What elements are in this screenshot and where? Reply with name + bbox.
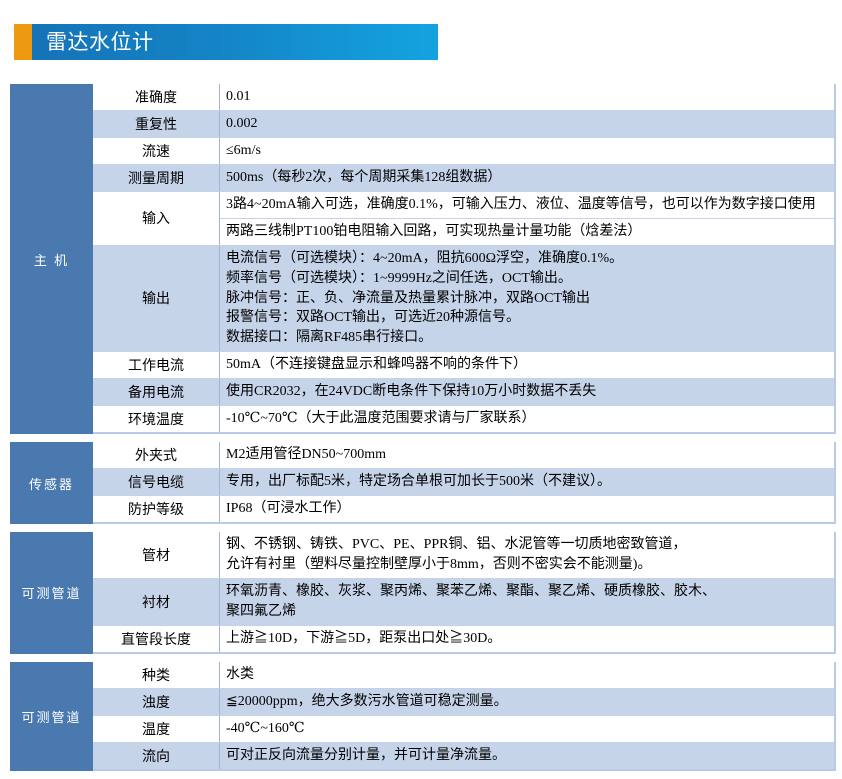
spec-row-value-line: 水类 bbox=[226, 665, 832, 685]
spec-row-value: 环氧沥青、橡胶、灰浆、聚丙烯、聚苯乙烯、聚酯、聚乙烯、硬质橡胶、胶木、聚四氟乙烯 bbox=[220, 579, 834, 625]
spec-row-value: M2适用管径DN50~700mm bbox=[220, 442, 834, 468]
spec-row-value-line: 允许有衬里（塑料尽量控制壁厚小于8mm，否则不密实会不能测量)。 bbox=[226, 555, 832, 575]
spec-row-label: 准确度 bbox=[93, 84, 220, 110]
spec-row-label: 测量周期 bbox=[93, 165, 220, 191]
spec-row-value-line: 环氧沥青、橡胶、灰浆、聚丙烯、聚苯乙烯、聚酯、聚乙烯、硬质橡胶、胶木、 bbox=[226, 582, 832, 602]
spec-section: 可测管道种类水类浊度≦20000ppm，绝大多数污水管道可稳定测量。温度-40℃… bbox=[10, 662, 836, 771]
spec-row-label: 输出 bbox=[93, 246, 220, 351]
spec-row-value: IP68（可浸水工作） bbox=[220, 496, 834, 522]
specification-table: 主 机准确度0.01重复性0.002流速≤6m/s测量周期500ms（每秒2次，… bbox=[10, 84, 836, 779]
spec-row-group: 准确度0.01重复性0.002流速≤6m/s测量周期500ms（每秒2次，每个周… bbox=[93, 84, 834, 434]
spec-row-value-line: 两路三线制PT100铂电阻输入回路，可实现热量计量功能（焓差法） bbox=[220, 219, 834, 245]
spec-row-subgroup: 3路4~20mA输入可选，准确度0.1%，可输入压力、液位、温度等信号，也可以作… bbox=[220, 192, 834, 245]
spec-row-label: 重复性 bbox=[93, 111, 220, 137]
spec-category-label: 可测管道 bbox=[10, 532, 93, 654]
spec-row-value-line: 使用CR2032，在24VDC断电条件下保持10万小时数据不丢失 bbox=[226, 382, 832, 402]
spec-row-label: 流向 bbox=[93, 743, 220, 769]
spec-row-value-line: ≦20000ppm，绝大多数污水管道可稳定测量。 bbox=[226, 692, 832, 712]
spec-row-value: -10℃~70℃（大于此温度范围要求请与厂家联系） bbox=[220, 406, 834, 432]
spec-row-value-line: ≤6m/s bbox=[226, 141, 832, 161]
page-title: 雷达水位计 bbox=[46, 32, 154, 53]
spec-row-value: 0.01 bbox=[220, 84, 834, 110]
spec-row: 输入3路4~20mA输入可选，准确度0.1%，可输入压力、液位、温度等信号，也可… bbox=[93, 192, 834, 246]
spec-row-value: 使用CR2032，在24VDC断电条件下保持10万小时数据不丢失 bbox=[220, 379, 834, 405]
spec-row-label: 管材 bbox=[93, 532, 220, 578]
spec-row-label: 工作电流 bbox=[93, 352, 220, 378]
spec-row: 准确度0.01 bbox=[93, 84, 834, 111]
spec-row: 备用电流使用CR2032，在24VDC断电条件下保持10万小时数据不丢失 bbox=[93, 379, 834, 406]
spec-row-value-line: 聚四氟乙烯 bbox=[226, 602, 832, 622]
spec-row: 输出电流信号（可选模块）：4~20mA，阻抗600Ω浮空，准确度0.1%。频率信… bbox=[93, 246, 834, 352]
spec-row-value-line: -40℃~160℃ bbox=[226, 719, 832, 739]
spec-row: 信号电缆专用，出厂标配5米，特定场合单根可加长于500米（不建议）。 bbox=[93, 469, 834, 496]
spec-row-label: 种类 bbox=[93, 662, 220, 688]
spec-row: 衬材环氧沥青、橡胶、灰浆、聚丙烯、聚苯乙烯、聚酯、聚乙烯、硬质橡胶、胶木、聚四氟… bbox=[93, 579, 834, 626]
spec-row: 温度-40℃~160℃ bbox=[93, 716, 834, 743]
spec-row-label: 信号电缆 bbox=[93, 469, 220, 495]
spec-row-value-line: 脉冲信号：正、负、净流量及热量累计脉冲，双路OCT输出 bbox=[226, 289, 832, 309]
spec-row-value-line: 专用，出厂标配5米，特定场合单根可加长于500米（不建议）。 bbox=[226, 472, 832, 492]
spec-row-value: ≤6m/s bbox=[220, 138, 834, 164]
spec-row-value-line: 0.002 bbox=[226, 114, 832, 134]
spec-row-label: 输入 bbox=[93, 192, 220, 245]
spec-row-group: 管材钢、不锈钢、铸铁、PVC、PE、PPR铜、铝、水泥管等一切质地密致管道，允许… bbox=[93, 532, 834, 654]
spec-row: 测量周期500ms（每秒2次，每个周期采集128组数据） bbox=[93, 165, 834, 192]
spec-row-value-line: IP68（可浸水工作） bbox=[226, 499, 832, 519]
spec-row: 流向可对正反向流量分别计量，并可计量净流量。 bbox=[93, 743, 834, 771]
spec-row-value: 500ms（每秒2次，每个周期采集128组数据） bbox=[220, 165, 834, 191]
spec-row-value-line: 钢、不锈钢、铸铁、PVC、PE、PPR铜、铝、水泥管等一切质地密致管道， bbox=[226, 535, 832, 555]
spec-row-value: 专用，出厂标配5米，特定场合单根可加长于500米（不建议）。 bbox=[220, 469, 834, 495]
spec-row-label: 浊度 bbox=[93, 689, 220, 715]
spec-row-value: 50mA（不连接键盘显示和蜂鸣器不响的条件下） bbox=[220, 352, 834, 378]
spec-row-value: 钢、不锈钢、铸铁、PVC、PE、PPR铜、铝、水泥管等一切质地密致管道，允许有衬… bbox=[220, 532, 834, 578]
spec-row: 防护等级IP68（可浸水工作） bbox=[93, 496, 834, 524]
spec-row-label: 防护等级 bbox=[93, 496, 220, 522]
spec-row-value: ≦20000ppm，绝大多数污水管道可稳定测量。 bbox=[220, 689, 834, 715]
spec-row: 流速≤6m/s bbox=[93, 138, 834, 165]
header-accent-bar bbox=[14, 24, 32, 60]
spec-row: 外夹式M2适用管径DN50~700mm bbox=[93, 442, 834, 469]
spec-row: 浊度≦20000ppm，绝大多数污水管道可稳定测量。 bbox=[93, 689, 834, 716]
spec-row-value: 可对正反向流量分别计量，并可计量净流量。 bbox=[220, 743, 834, 769]
spec-row-label: 直管段长度 bbox=[93, 626, 220, 652]
spec-row-label: 外夹式 bbox=[93, 442, 220, 468]
spec-row-value: 0.002 bbox=[220, 111, 834, 137]
spec-section: 传感器外夹式M2适用管径DN50~700mm信号电缆专用，出厂标配5米，特定场合… bbox=[10, 442, 836, 524]
spec-row-value: 水类 bbox=[220, 662, 834, 688]
spec-row-label: 环境温度 bbox=[93, 406, 220, 432]
spec-row: 种类水类 bbox=[93, 662, 834, 689]
spec-row: 管材钢、不锈钢、铸铁、PVC、PE、PPR铜、铝、水泥管等一切质地密致管道，允许… bbox=[93, 532, 834, 579]
spec-row-label: 备用电流 bbox=[93, 379, 220, 405]
spec-row-value-line: 电流信号（可选模块）：4~20mA，阻抗600Ω浮空，准确度0.1%。 bbox=[226, 249, 832, 269]
spec-row-value-line: -10℃~70℃（大于此温度范围要求请与厂家联系） bbox=[226, 409, 832, 429]
spec-category-label: 传感器 bbox=[10, 442, 93, 524]
spec-row-value-line: 报警信号：双路OCT输出，可选近20种源信号。 bbox=[226, 308, 832, 328]
spec-category-label: 主 机 bbox=[10, 84, 93, 434]
spec-row-value: -40℃~160℃ bbox=[220, 716, 834, 742]
spec-row-group: 外夹式M2适用管径DN50~700mm信号电缆专用，出厂标配5米，特定场合单根可… bbox=[93, 442, 834, 524]
page-header-banner: 雷达水位计 bbox=[14, 24, 438, 60]
spec-row-value: 电流信号（可选模块）：4~20mA，阻抗600Ω浮空，准确度0.1%。频率信号（… bbox=[220, 246, 834, 351]
spec-row-label: 衬材 bbox=[93, 579, 220, 625]
spec-row: 直管段长度上游≧10D，下游≧5D，距泵出口处≧30D。 bbox=[93, 626, 834, 654]
spec-section: 主 机准确度0.01重复性0.002流速≤6m/s测量周期500ms（每秒2次，… bbox=[10, 84, 836, 434]
spec-category-label: 可测管道 bbox=[10, 662, 93, 771]
spec-row-value: 上游≧10D，下游≧5D，距泵出口处≧30D。 bbox=[220, 626, 834, 652]
spec-row: 工作电流50mA（不连接键盘显示和蜂鸣器不响的条件下） bbox=[93, 352, 834, 379]
spec-section: 可测管道管材钢、不锈钢、铸铁、PVC、PE、PPR铜、铝、水泥管等一切质地密致管… bbox=[10, 532, 836, 654]
spec-row-group: 种类水类浊度≦20000ppm，绝大多数污水管道可稳定测量。温度-40℃~160… bbox=[93, 662, 834, 771]
spec-row-value-line: 数据接口：隔离RF485串行接口。 bbox=[226, 328, 832, 348]
spec-row-value-line: 0.01 bbox=[226, 87, 832, 107]
spec-row-value-line: M2适用管径DN50~700mm bbox=[226, 445, 832, 465]
spec-row-value-line: 3路4~20mA输入可选，准确度0.1%，可输入压力、液位、温度等信号，也可以作… bbox=[220, 192, 834, 219]
spec-row-label: 温度 bbox=[93, 716, 220, 742]
spec-row: 重复性0.002 bbox=[93, 111, 834, 138]
spec-row-value-line: 50mA（不连接键盘显示和蜂鸣器不响的条件下） bbox=[226, 355, 832, 375]
header-title-bar: 雷达水位计 bbox=[32, 24, 438, 60]
spec-row-value-line: 上游≧10D，下游≧5D，距泵出口处≧30D。 bbox=[226, 629, 832, 649]
spec-row-label: 流速 bbox=[93, 138, 220, 164]
spec-row-value-line: 500ms（每秒2次，每个周期采集128组数据） bbox=[226, 168, 832, 188]
spec-row-value-line: 频率信号（可选模块）：1~9999Hz之间任选，OCT输出。 bbox=[226, 269, 832, 289]
spec-row: 环境温度-10℃~70℃（大于此温度范围要求请与厂家联系） bbox=[93, 406, 834, 434]
